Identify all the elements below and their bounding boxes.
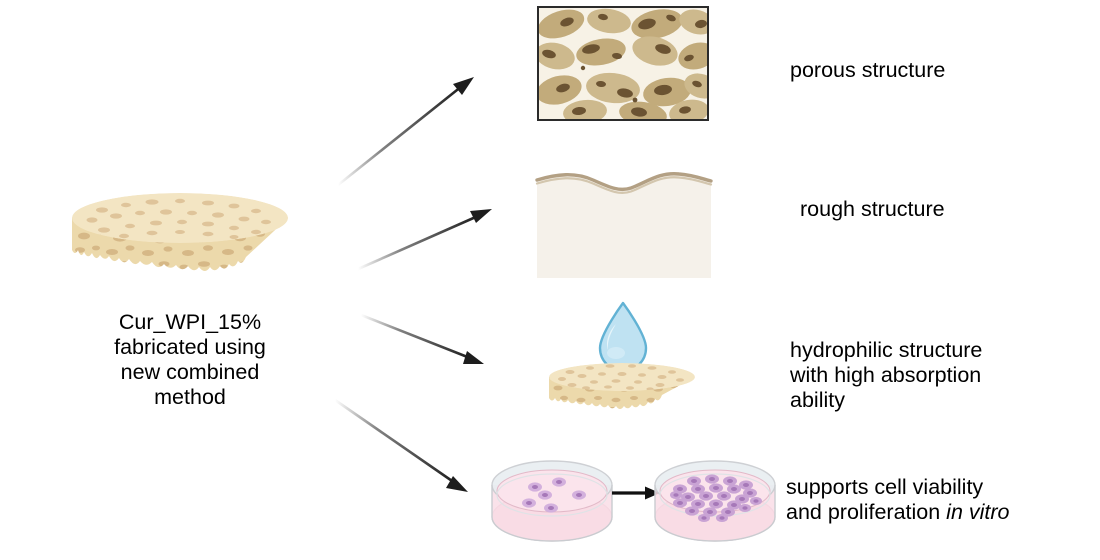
rough-surface-cross-section-icon (535, 166, 713, 278)
source-caption: Cur_WPI_15% fabricated using new combine… (60, 310, 320, 410)
arrow-to-rough (358, 209, 492, 269)
cell-label-italic: in vitro (946, 500, 1009, 524)
porous-sponge-disc-small-icon (546, 360, 698, 422)
arrow-to-cell-viability (335, 400, 468, 492)
outcome-label-rough: rough structure (800, 197, 1080, 222)
outcome-label-porous: porous structure (790, 58, 1070, 83)
petri-dish-after-icon (650, 455, 780, 547)
arrow-to-porous (338, 77, 474, 185)
graphical-abstract-canvas: Cur_WPI_15% fabricated using new combine… (0, 0, 1100, 560)
outcome-label-cell-viability: supports cell viability and proliferatio… (786, 475, 1086, 525)
sem-porous-micrograph-icon (537, 6, 709, 121)
porous-sponge-disc-icon (68, 188, 292, 296)
petri-dish-before-icon (487, 455, 617, 547)
arrow-to-hydrophilic (361, 315, 484, 364)
outcome-label-hydrophilic: hydrophilic structure with high absorpti… (790, 338, 1080, 413)
